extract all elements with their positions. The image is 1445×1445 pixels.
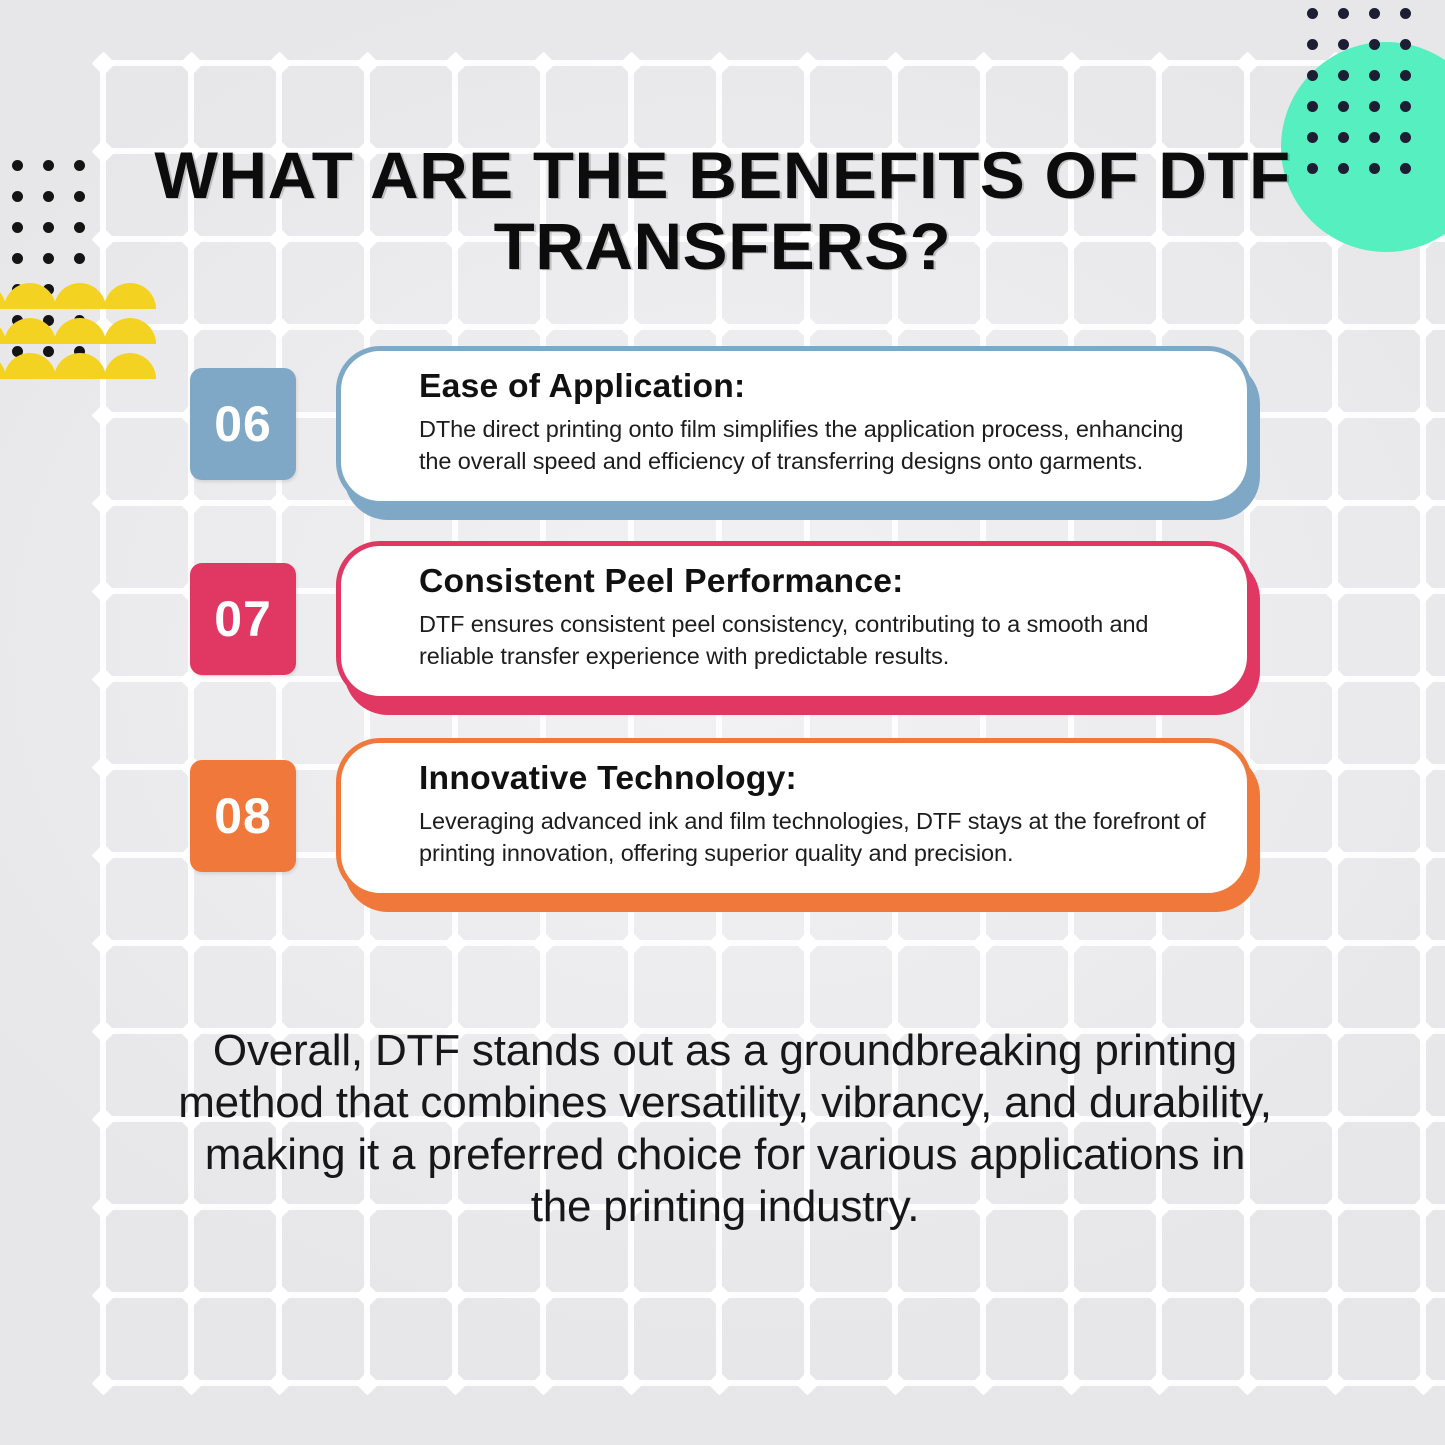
grid-diamond (355, 931, 379, 955)
grid-diamond (1235, 931, 1259, 955)
grid-diamond (1323, 667, 1347, 691)
grid-diamond (883, 931, 907, 955)
grid-diamond (1235, 51, 1259, 75)
grid-diamond (1059, 1283, 1083, 1307)
decorative-dot (1369, 163, 1380, 174)
grid-diamond (1411, 843, 1435, 867)
grid-diamond (443, 315, 467, 339)
benefit-card: 08Innovative Technology:Leveraging advan… (190, 738, 1260, 916)
grid-diamond (355, 1371, 379, 1395)
decorative-dot (43, 160, 54, 171)
closing-paragraph: Overall, DTF stands out as a groundbreak… (175, 1025, 1275, 1233)
grid-diamond (883, 51, 907, 75)
decorative-dot (74, 160, 85, 171)
yellow-scallop-decoration (0, 283, 154, 393)
grid-diamond (267, 1371, 291, 1395)
card-panel: Consistent Peel Performance:DTF ensures … (336, 541, 1252, 701)
scallop-shape (4, 318, 56, 344)
grid-diamond (267, 51, 291, 75)
decorative-dot (12, 222, 23, 233)
grid-diamond (707, 1283, 731, 1307)
decorative-dot (1400, 132, 1411, 143)
decorative-dot (1369, 39, 1380, 50)
grid-diamond (91, 579, 115, 603)
grid-diamond (1411, 579, 1435, 603)
grid-diamond (179, 1283, 203, 1307)
scallop-shape (54, 318, 106, 344)
grid-diamond (1323, 843, 1347, 867)
decorative-dot (12, 191, 23, 202)
grid-diamond (531, 51, 555, 75)
grid-diamond (1323, 1283, 1347, 1307)
decorative-dot (1307, 8, 1318, 19)
grid-diamond (267, 1283, 291, 1307)
grid-diamond (795, 315, 819, 339)
grid-diamond (91, 491, 115, 515)
grid-diamond (1323, 579, 1347, 603)
decorative-dot (1307, 163, 1318, 174)
grid-diamond (707, 315, 731, 339)
grid-diamond (267, 315, 291, 339)
grid-diamond (1147, 1371, 1171, 1395)
card-number-badge: 07 (190, 563, 296, 675)
grid-diamond (355, 315, 379, 339)
grid-diamond (1059, 315, 1083, 339)
decorative-dot (74, 222, 85, 233)
grid-diamond (179, 931, 203, 955)
grid-diamond (531, 1283, 555, 1307)
grid-diamond (707, 931, 731, 955)
grid-diamond (443, 1371, 467, 1395)
grid-diamond (1411, 1283, 1435, 1307)
decorative-dot (1338, 163, 1349, 174)
grid-diamond (1059, 931, 1083, 955)
grid-diamond (1059, 51, 1083, 75)
decorative-dot (12, 160, 23, 171)
grid-diamond (91, 1283, 115, 1307)
grid-diamond (1411, 755, 1435, 779)
benefit-card: 07Consistent Peel Performance:DTF ensure… (190, 541, 1260, 719)
grid-diamond (619, 1371, 643, 1395)
card-number-badge: 08 (190, 760, 296, 872)
card-panel-wrapper: Ease of Application:DThe direct printing… (336, 346, 1260, 524)
scallop-shape (104, 283, 156, 309)
grid-diamond (619, 1283, 643, 1307)
grid-diamond (443, 931, 467, 955)
decorative-dot (1400, 8, 1411, 19)
decorative-dot (1338, 39, 1349, 50)
grid-diamond (971, 1283, 995, 1307)
grid-diamond (1323, 1371, 1347, 1395)
grid-diamond (883, 1283, 907, 1307)
decorative-dot (1369, 70, 1380, 81)
decorative-dot (43, 222, 54, 233)
grid-diamond (91, 403, 115, 427)
decorative-dot (1369, 101, 1380, 112)
decorative-dot (74, 253, 85, 264)
grid-diamond (1235, 1371, 1259, 1395)
grid-diamond (91, 931, 115, 955)
grid-diamond (707, 1371, 731, 1395)
page-title: WHAT ARE THE BENEFITS OF DTF TRANSFERS? (139, 140, 1307, 283)
scallop-shape (54, 283, 106, 309)
grid-diamond (91, 843, 115, 867)
card-body-text: DTF ensures consistent peel consistency,… (419, 609, 1217, 672)
decorative-dot (1307, 70, 1318, 81)
grid-diamond (1323, 755, 1347, 779)
grid-diamond (531, 1371, 555, 1395)
decorative-dot (1338, 132, 1349, 143)
grid-diamond (795, 1371, 819, 1395)
grid-diamond (1147, 315, 1171, 339)
grid-diamond (179, 51, 203, 75)
grid-diamond (443, 1283, 467, 1307)
decorative-dot (1400, 163, 1411, 174)
grid-diamond (91, 667, 115, 691)
grid-diamond (91, 139, 115, 163)
grid-diamond (179, 315, 203, 339)
grid-diamond (795, 51, 819, 75)
grid-diamond (355, 51, 379, 75)
grid-diamond (91, 755, 115, 779)
card-heading: Ease of Application: (419, 367, 1233, 405)
card-heading: Innovative Technology: (419, 759, 1233, 797)
grid-diamond (91, 1019, 115, 1043)
grid-diamond (1235, 315, 1259, 339)
decorative-dot (1400, 39, 1411, 50)
grid-diamond (91, 227, 115, 251)
card-panel: Ease of Application:DThe direct printing… (336, 346, 1252, 506)
grid-diamond (1411, 1107, 1435, 1131)
grid-diamond (1323, 491, 1347, 515)
decorative-dot (1400, 101, 1411, 112)
grid-diamond (531, 931, 555, 955)
decorative-dot (1307, 101, 1318, 112)
grid-diamond (1411, 1195, 1435, 1219)
grid-diamond (1411, 1019, 1435, 1043)
grid-diamond (1235, 1283, 1259, 1307)
grid-diamond (883, 315, 907, 339)
grid-diamond (1323, 403, 1347, 427)
grid-diamond (619, 315, 643, 339)
grid-diamond (91, 1371, 115, 1395)
scallop-shape (104, 318, 156, 344)
grid-diamond (971, 1371, 995, 1395)
scallop-shape (4, 283, 56, 309)
grid-diamond (795, 1283, 819, 1307)
grid-diamond (1411, 1371, 1435, 1395)
scallop-shape (4, 353, 56, 379)
grid-diamond (971, 315, 995, 339)
decorative-dot (1369, 8, 1380, 19)
benefit-card: 06Ease of Application:DThe direct printi… (190, 346, 1260, 524)
decorative-dot (1400, 70, 1411, 81)
grid-diamond (1411, 667, 1435, 691)
grid-diamond (1411, 491, 1435, 515)
grid-diamond (619, 931, 643, 955)
grid-diamond (1147, 51, 1171, 75)
decorative-dot (43, 191, 54, 202)
decorative-dot (1307, 132, 1318, 143)
card-panel: Innovative Technology:Leveraging advance… (336, 738, 1252, 898)
grid-diamond (267, 931, 291, 955)
grid-diamond (1323, 315, 1347, 339)
dot-grid-top-right (1307, 8, 1439, 176)
card-panel-wrapper: Consistent Peel Performance:DTF ensures … (336, 541, 1260, 719)
scallop-shape (104, 353, 156, 379)
grid-diamond (91, 1107, 115, 1131)
grid-diamond (1323, 1195, 1347, 1219)
decorative-dot (1338, 70, 1349, 81)
grid-diamond (971, 931, 995, 955)
grid-diamond (707, 51, 731, 75)
grid-diamond (971, 51, 995, 75)
decorative-dot (1338, 8, 1349, 19)
card-body-text: DThe direct printing onto film simplifie… (419, 414, 1217, 477)
grid-diamond (1411, 931, 1435, 955)
grid-diamond (1323, 1019, 1347, 1043)
grid-diamond (91, 1195, 115, 1219)
card-number-badge: 06 (190, 368, 296, 480)
grid-diamond (1059, 1371, 1083, 1395)
grid-diamond (1323, 1107, 1347, 1131)
decorative-dot (74, 191, 85, 202)
card-heading: Consistent Peel Performance: (419, 562, 1233, 600)
grid-diamond (1147, 931, 1171, 955)
grid-diamond (91, 51, 115, 75)
grid-diamond (795, 931, 819, 955)
grid-diamond (619, 51, 643, 75)
decorative-dot (1369, 132, 1380, 143)
grid-diamond (1147, 1283, 1171, 1307)
card-panel-wrapper: Innovative Technology:Leveraging advance… (336, 738, 1260, 916)
grid-diamond (883, 1371, 907, 1395)
grid-diamond (531, 315, 555, 339)
decorative-dot (43, 253, 54, 264)
grid-diamond (179, 1371, 203, 1395)
card-body-text: Leveraging advanced ink and film technol… (419, 806, 1217, 869)
scallop-shape (54, 353, 106, 379)
grid-diamond (1411, 403, 1435, 427)
grid-diamond (1323, 931, 1347, 955)
infographic-canvas: WHAT ARE THE BENEFITS OF DTF TRANSFERS? … (0, 0, 1445, 1445)
grid-diamond (355, 1283, 379, 1307)
decorative-dot (12, 253, 23, 264)
grid-diamond (1411, 315, 1435, 339)
decorative-dot (1338, 101, 1349, 112)
grid-diamond (443, 51, 467, 75)
decorative-dot (1307, 39, 1318, 50)
